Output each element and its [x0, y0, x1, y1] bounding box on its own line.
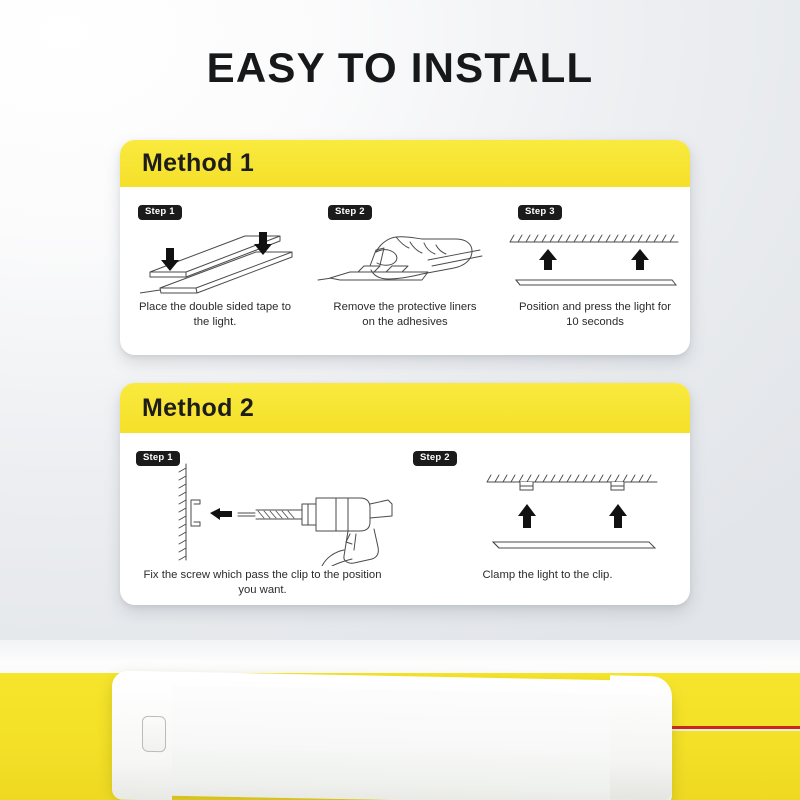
step-badge: Step 2 — [328, 205, 372, 220]
method-1-step-2: Step 2 — [310, 187, 500, 330]
method-2-steps: Step 1 — [120, 433, 690, 598]
method-1-title: Method 1 — [142, 149, 254, 178]
method-2-header: Method 2 — [120, 383, 690, 433]
method-1-step-3: Step 3 — [500, 187, 690, 330]
method-1-step-1: Step 1 — [120, 187, 310, 330]
method-1-card: Method 1 Step 1 — [120, 140, 690, 355]
step-badge: Step 3 — [518, 205, 562, 220]
clamp-light-to-clip-icon — [405, 460, 690, 566]
method-2-card: Method 2 Step 1 — [120, 383, 690, 605]
step-caption: Remove the protective liners on the adhe… — [310, 300, 500, 330]
method-1-steps: Step 1 — [120, 187, 690, 330]
step-caption: Clamp the light to the clip. — [405, 568, 690, 583]
step-caption: Place the double sided tape to the light… — [120, 300, 310, 330]
photo-backdrop-white — [0, 640, 800, 673]
hand-peeling-liner-icon — [310, 222, 500, 294]
lamp-power-switch[interactable] — [142, 716, 166, 752]
method-2-step-1: Step 1 — [120, 433, 405, 598]
press-light-to-ceiling-icon — [500, 222, 690, 294]
step-caption: Fix the screw which pass the clip to the… — [120, 568, 405, 598]
step-badge: Step 1 — [138, 205, 182, 220]
product-infographic-page: EASY TO INSTALL Method 1 Step 1 — [0, 0, 800, 800]
method-2-step-2: Step 2 — [405, 433, 690, 598]
step-caption: Position and press the light for 10 seco… — [500, 300, 690, 330]
method-2-title: Method 2 — [142, 394, 254, 423]
drill-screw-into-clip-icon — [120, 460, 405, 566]
tape-onto-light-icon — [120, 222, 310, 294]
page-title: EASY TO INSTALL — [0, 44, 800, 92]
method-1-header: Method 1 — [120, 140, 690, 187]
led-bar-light — [112, 676, 672, 800]
